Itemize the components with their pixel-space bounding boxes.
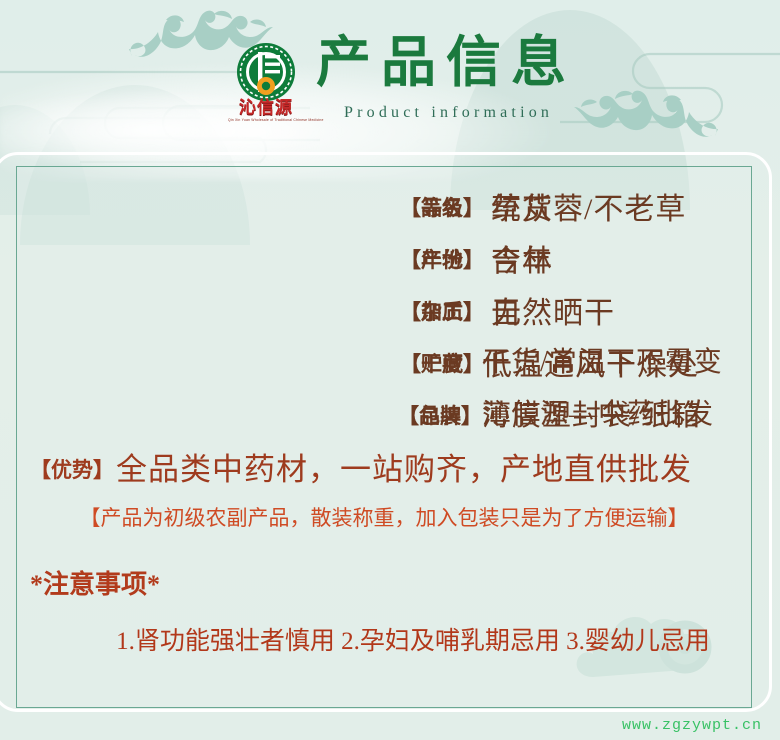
row-label-right: 【品牌】 — [398, 400, 482, 430]
logo-brand-en: Qin Xin Yuan Wholesale of Traditional Ch… — [228, 118, 304, 122]
logo-brand-cn: 沁信源 — [226, 99, 306, 117]
row-label-right: 【干度】 — [400, 348, 484, 378]
logo-emblem-icon — [232, 42, 300, 102]
notice-body: 1.肾功能强壮者慎用 2.孕妇及哺乳期忌用 3.婴幼儿忌用 — [68, 621, 758, 657]
site-watermark: www.zgzywpt.cn — [622, 717, 762, 734]
packaging-note: 【产品为初级农副产品，散装称重，加入包装只是为了方便运输】 — [16, 502, 752, 532]
page-header: 沁信源 Qin Xin Yuan Wholesale of Traditiona… — [0, 0, 780, 150]
table-row: 【产地】 吉林 【年份】 今年 — [16, 236, 752, 282]
row-value-right: 沁信源—中药批发 — [482, 392, 714, 432]
table-row: 【包装】 薄膜塑封袋/纸箱 【品牌】 沁信源—中药批发 — [16, 392, 752, 438]
table-row: 【加工】 自然晒干 【杂质】 无 — [16, 288, 752, 334]
table-row: 【品名】 草苁蓉/不老草 【等级】 统货 — [16, 184, 752, 230]
table-row: 【贮藏】 低温通风干燥处 【干度】 干货/常温下不霉变 — [16, 340, 752, 386]
row-label-right: 【年份】 — [400, 244, 484, 274]
advantage-row: 【优势】 全品类中药材，一站购齐，产地直供批发 — [16, 444, 752, 496]
advantage-label: 【优势】 — [30, 454, 114, 484]
row-value-right: 无 — [491, 288, 522, 332]
row-value-right: 今年 — [491, 236, 553, 280]
page-subtitle: Product information — [344, 104, 553, 122]
brand-logo: 沁信源 Qin Xin Yuan Wholesale of Traditiona… — [226, 42, 306, 130]
row-label-right: 【等级】 — [400, 192, 484, 222]
advantage-value: 全品类中药材，一站购齐，产地直供批发 — [116, 444, 692, 489]
product-info-page: 沁信源 Qin Xin Yuan Wholesale of Traditiona… — [0, 0, 780, 740]
notice-heading: *注意事项* — [30, 564, 160, 601]
page-title: 产品信息 — [316, 33, 576, 93]
row-label-right: 【杂质】 — [400, 296, 484, 326]
product-info-table: 【品名】 草苁蓉/不老草 【等级】 统货 【产地】 吉林 【年份】 今年 【加工… — [16, 166, 752, 708]
row-value-right: 统货 — [491, 184, 553, 228]
row-value-right: 干货/常温下不霉变 — [482, 340, 723, 380]
